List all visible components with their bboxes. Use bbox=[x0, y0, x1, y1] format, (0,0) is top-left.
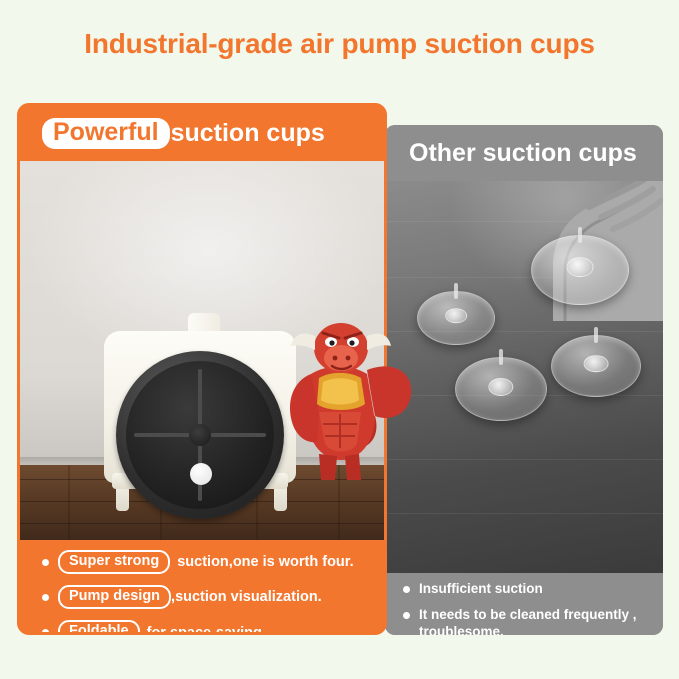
list-item-text: ,suction visualization. bbox=[171, 589, 322, 605]
bullet-dot-icon bbox=[403, 612, 410, 619]
list-item-text: It needs to be cleaned frequently , trou… bbox=[419, 607, 651, 635]
list-item: It needs to be cleaned frequently , trou… bbox=[403, 607, 663, 635]
product-infographic: Industrial-grade air pump suction cups O… bbox=[0, 0, 679, 679]
list-item-text: for space-saving. bbox=[147, 625, 266, 635]
suction-cup-center bbox=[445, 308, 467, 324]
right-panel-header: Other suction cups bbox=[385, 125, 663, 181]
list-item-text: suction,one is worth four. bbox=[177, 554, 353, 570]
pump-indicator-dot bbox=[190, 463, 212, 485]
suction-cup-stem bbox=[578, 227, 582, 243]
suction-cup-center bbox=[488, 377, 513, 395]
left-panel-title-highlight: Powerful bbox=[42, 118, 170, 149]
list-item: Foldable for space-saving. bbox=[42, 620, 384, 635]
suction-cup bbox=[417, 291, 495, 345]
bullet-dot-icon bbox=[42, 629, 49, 635]
list-item-pill: Pump design bbox=[58, 585, 171, 609]
left-panel-title-rest: suction cups bbox=[171, 120, 325, 147]
list-item-pill: Foldable bbox=[58, 620, 140, 635]
suction-cup-stem bbox=[499, 349, 503, 365]
right-bullet-list: Insufficient suction It needs to be clea… bbox=[385, 573, 663, 635]
bull-mascot bbox=[275, 308, 415, 483]
list-item: Super strong suction,one is worth four. bbox=[42, 550, 384, 574]
page-title: Industrial-grade air pump suction cups bbox=[0, 28, 679, 60]
bullet-dot-icon bbox=[42, 594, 49, 601]
other-suction-cups-panel: Other suction cups bbox=[385, 125, 663, 635]
left-panel-header: Powerful suction cups bbox=[20, 106, 384, 161]
pump-disc-hub bbox=[189, 424, 211, 446]
suction-cup-center bbox=[567, 257, 594, 277]
suction-cup-stem bbox=[454, 283, 458, 299]
bullet-dot-icon bbox=[42, 559, 49, 566]
pump-disc-inner bbox=[126, 361, 274, 509]
suction-cup bbox=[531, 235, 629, 305]
other-cups-photo bbox=[385, 181, 663, 573]
left-bullet-list: Super strong suction,one is worth four. … bbox=[20, 540, 384, 635]
list-item-pill: Super strong bbox=[58, 550, 170, 574]
list-item: Insufficient suction bbox=[403, 581, 663, 597]
list-item-text: Insufficient suction bbox=[419, 581, 543, 597]
suction-cup-center bbox=[584, 355, 609, 373]
right-panel-title: Other suction cups bbox=[409, 140, 637, 167]
suction-cup-stem bbox=[594, 327, 598, 343]
bullet-dot-icon bbox=[403, 586, 410, 593]
suction-cup bbox=[455, 357, 547, 421]
list-item: Pump design ,suction visualization. bbox=[42, 585, 384, 609]
suction-cup bbox=[551, 335, 641, 397]
pump-suction-disc bbox=[116, 351, 284, 519]
